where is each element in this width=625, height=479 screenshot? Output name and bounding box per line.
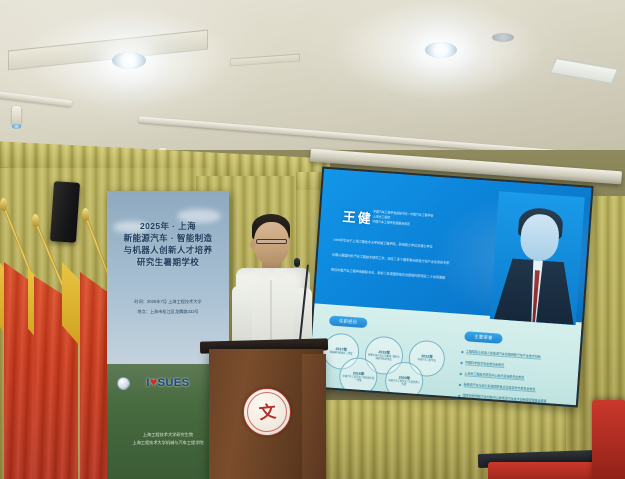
banner-subtitle-line: 时间：2025年7月 上海工程技术大学 xyxy=(107,298,229,305)
banner-subtitle-line: 地点：上海市松江区龙腾路333号 xyxy=(107,308,229,315)
ceiling-downlight xyxy=(112,52,146,69)
podium-side-panel xyxy=(302,354,326,479)
banner-title-line: 2025年 · 上海 xyxy=(107,221,229,232)
timeline-text: 中国汽车工程学会 / 科技进步奖一等奖 xyxy=(340,375,376,384)
banner-title-line: 与机器人创新人才培养 xyxy=(107,245,229,256)
timeline-text: 中国汽车工程学会 / 年度优秀工作者 xyxy=(386,379,422,388)
bullet-diamond-icon xyxy=(459,372,462,375)
flag-finial xyxy=(32,214,39,227)
banner-title-line: 研究生暑期学校 xyxy=(107,257,229,268)
timeline-text: 中国汽车工程学会 xyxy=(415,359,438,364)
emblem-glyph: 文 xyxy=(258,403,277,422)
slide-speaker-name: 王健 xyxy=(342,206,373,227)
bullet-diamond-icon xyxy=(459,383,462,386)
ceiling-panel-light xyxy=(548,57,619,85)
banner-title-line: 新能源汽车 · 智能制造 xyxy=(107,233,229,244)
bullet-diamond-icon xyxy=(460,361,463,364)
presenter-glasses xyxy=(256,239,287,244)
heart-icon: ♥ xyxy=(150,375,158,389)
ceiling-panel xyxy=(8,29,208,70)
wall-speaker xyxy=(50,181,80,243)
portrait-head xyxy=(519,213,560,262)
projection-screen: 王健 中国汽车工程学会副秘书长 / 中国汽车工程学会 上海市工程师 中国汽车工程… xyxy=(306,167,593,408)
microphone-head xyxy=(294,258,300,267)
ceiling-panel xyxy=(230,54,300,67)
flag-finial xyxy=(0,198,7,211)
conference-hall-photo: 2025年 · 上海 新能源汽车 · 智能制造 与机器人创新人才培养 研究生暑期… xyxy=(0,0,625,479)
flag-finial xyxy=(82,208,89,221)
ceiling-downlight xyxy=(425,42,457,58)
sues-logo-suffix: SUES xyxy=(158,377,190,389)
bullet-diamond-icon xyxy=(461,350,464,353)
track-spotlight xyxy=(12,106,21,126)
ceiling-vent xyxy=(492,33,514,42)
audience-seat xyxy=(592,400,625,479)
timeline-text: 获聘中国人民大学教授 / 兼任中国科学技术协会 xyxy=(366,354,402,363)
bullet-diamond-icon xyxy=(458,394,461,397)
slide-speaker-portrait xyxy=(490,191,585,325)
university-emblem: 文 xyxy=(243,388,291,436)
timeline-text: 获国家科技进步二等奖 xyxy=(327,351,354,356)
